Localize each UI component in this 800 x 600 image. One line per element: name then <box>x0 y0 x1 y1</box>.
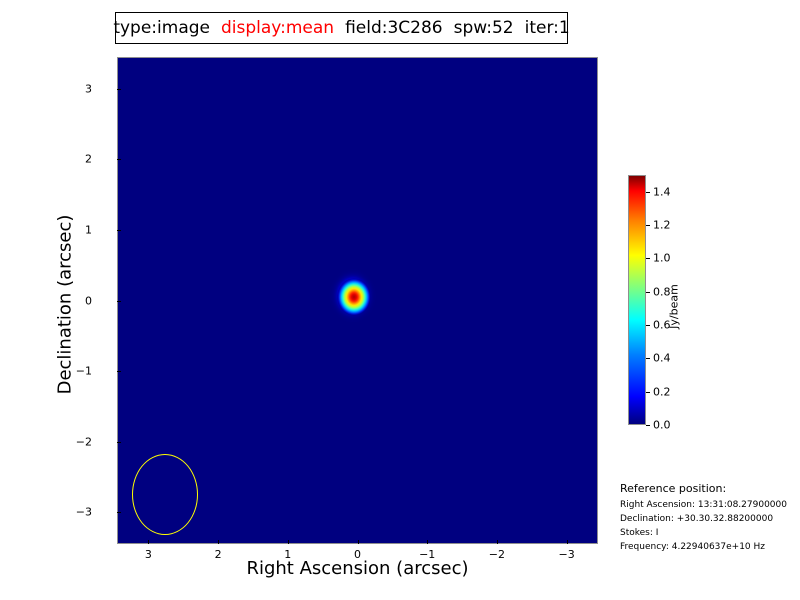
colorbar-tick-label: 0.6 <box>653 319 671 332</box>
colorbar-tick-mark <box>646 392 650 393</box>
y-tick-label: −3 <box>76 506 92 519</box>
y-tick-mark <box>117 230 121 231</box>
colorbar-tick-label: 0.0 <box>653 419 671 432</box>
x-tick-mark <box>497 540 498 544</box>
status-item-display: display:mean <box>221 20 334 37</box>
colorbar-tick-mark <box>646 425 650 426</box>
colorbar-tick-mark <box>646 325 650 326</box>
y-tick-mark <box>117 159 121 160</box>
y-tick-label: 2 <box>85 153 92 166</box>
y-tick-mark <box>117 442 121 443</box>
reference-position-dec: Declination: +30.30.32.88200000 <box>620 514 800 524</box>
y-tick-mark <box>117 89 121 90</box>
colorbar[interactable] <box>628 175 646 425</box>
colorbar-tick-mark <box>646 358 650 359</box>
colorbar-tick-label: 0.4 <box>653 352 671 365</box>
status-item-spw: spw:52 <box>454 20 514 37</box>
x-axis-label: Right Ascension (arcsec) <box>117 558 598 579</box>
status-item-field: field:3C286 <box>345 20 443 37</box>
status-bar: type:image display:mean field:3C286 spw:… <box>115 12 568 44</box>
reference-position-stokes: Stokes: I <box>620 528 800 538</box>
colorbar-tick-label: 0.8 <box>653 285 671 298</box>
y-tick-mark <box>117 301 121 302</box>
colorbar-tick-mark <box>646 292 650 293</box>
y-tick-mark <box>117 512 121 513</box>
colorbar-tick-mark <box>646 258 650 259</box>
point-source-3c286 <box>337 278 371 316</box>
colorbar-tick-label: 1.0 <box>653 252 671 265</box>
image-plot-area[interactable] <box>117 57 598 544</box>
y-tick-label: 3 <box>85 82 92 95</box>
x-tick-mark <box>288 540 289 544</box>
reference-position-ra: Right Ascension: 13:31:08.27900000 <box>620 500 800 510</box>
restoring-beam-ellipse <box>132 454 198 535</box>
reference-position-frequency: Frequency: 4.22940637e+10 Hz <box>620 542 800 552</box>
y-axis-label: Declination (arcsec) <box>55 65 76 545</box>
reference-position-block: Reference position: Right Ascension: 13:… <box>620 482 800 556</box>
colorbar-tick-label: 0.2 <box>653 385 671 398</box>
colorbar-tick-mark <box>646 225 650 226</box>
x-tick-mark <box>218 540 219 544</box>
x-tick-mark <box>358 540 359 544</box>
status-item-iter: iter:1 <box>525 20 570 37</box>
x-tick-mark <box>148 540 149 544</box>
y-tick-mark <box>117 371 121 372</box>
x-tick-mark <box>427 540 428 544</box>
colorbar-tick-label: 1.4 <box>653 185 671 198</box>
colorbar-tick-mark <box>646 192 650 193</box>
y-tick-label: 1 <box>85 223 92 236</box>
x-tick-mark <box>567 540 568 544</box>
reference-position-heading: Reference position: <box>620 482 800 495</box>
status-item-type: type:image <box>113 20 210 37</box>
y-tick-label: −2 <box>76 435 92 448</box>
y-tick-label: −1 <box>76 365 92 378</box>
y-tick-label: 0 <box>85 294 92 307</box>
colorbar-tick-label: 1.2 <box>653 219 671 232</box>
